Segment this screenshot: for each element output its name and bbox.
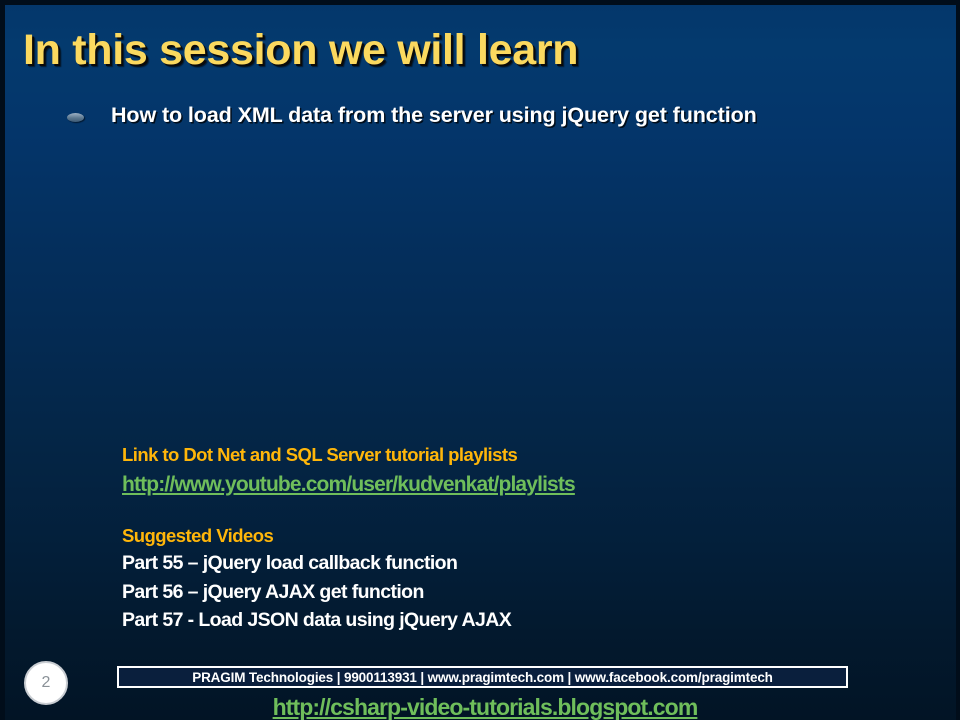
company-footer-banner: PRAGIM Technologies | 9900113931 | www.p… [117,666,848,688]
slide-title: In this session we will learn [23,28,923,73]
youtube-playlist-link[interactable]: http://www.youtube.com/user/kudvenkat/pl… [122,474,575,495]
suggested-video-item: Part 56 – jQuery AJAX get function [122,583,922,603]
slide-canvas: In this session we will learn How to loa… [5,5,956,720]
playlist-heading: Link to Dot Net and SQL Server tutorial … [122,446,922,465]
playlist-link-row: http://www.youtube.com/user/kudvenkat/pl… [122,474,922,504]
reference-links-block: Link to Dot Net and SQL Server tutorial … [122,446,922,640]
bullet-item-text: How to load XML data from the server usi… [111,103,757,128]
suggested-video-item: Part 57 - Load JSON data using jQuery AJ… [122,611,922,631]
blog-link-row: http://csharp-video-tutorials.blogspot.c… [5,694,960,720]
slide-number-text: 2 [42,674,51,692]
company-footer-text: PRAGIM Technologies | 9900113931 | www.p… [192,670,773,685]
ellipse-bullet-icon [67,113,84,122]
block-spacer [122,504,922,527]
blog-url-link[interactable]: http://csharp-video-tutorials.blogspot.c… [273,694,698,720]
suggested-videos-heading: Suggested Videos [122,527,922,546]
bullet-list: How to load XML data from the server usi… [67,103,937,128]
presentation-slide: In this session we will learn How to loa… [0,0,960,720]
suggested-video-item: Part 55 – jQuery load callback function [122,554,922,574]
